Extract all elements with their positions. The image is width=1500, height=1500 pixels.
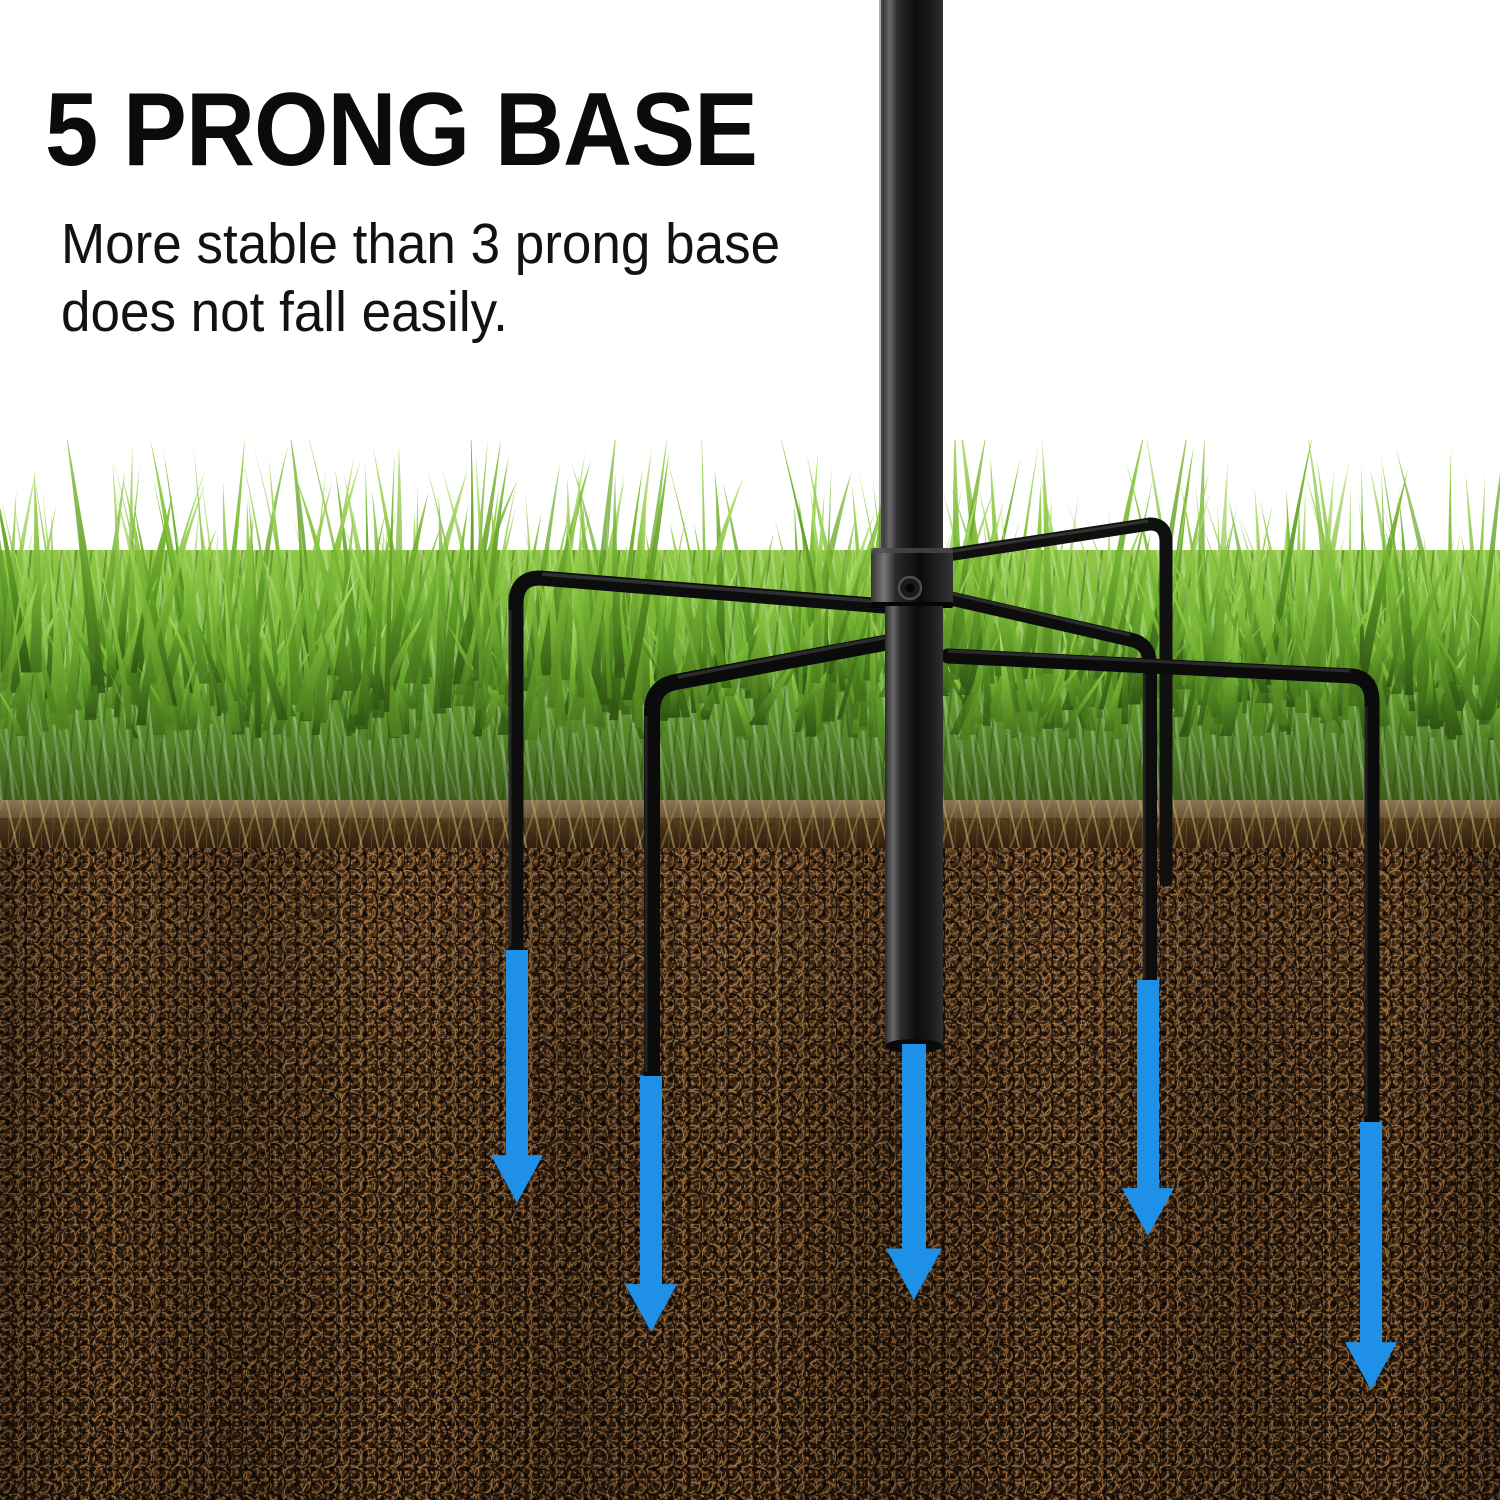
subtitle-line-2: does not fall easily.: [61, 278, 818, 346]
headline-block: 5 PRONG BASE More stable than 3 prong ba…: [45, 78, 875, 346]
arrow-5: [1345, 1122, 1397, 1390]
arrow-2: [625, 1076, 677, 1332]
subtitle-line-1: More stable than 3 prong base: [61, 210, 818, 278]
arrow-1: [491, 950, 543, 1203]
infographic-canvas: 5 PRONG BASE More stable than 3 prong ba…: [0, 0, 1500, 1500]
subtitle: More stable than 3 prong base does not f…: [61, 210, 818, 346]
page-title: 5 PRONG BASE: [45, 78, 809, 182]
arrow-4: [1122, 980, 1174, 1236]
arrow-3: [886, 1044, 942, 1300]
